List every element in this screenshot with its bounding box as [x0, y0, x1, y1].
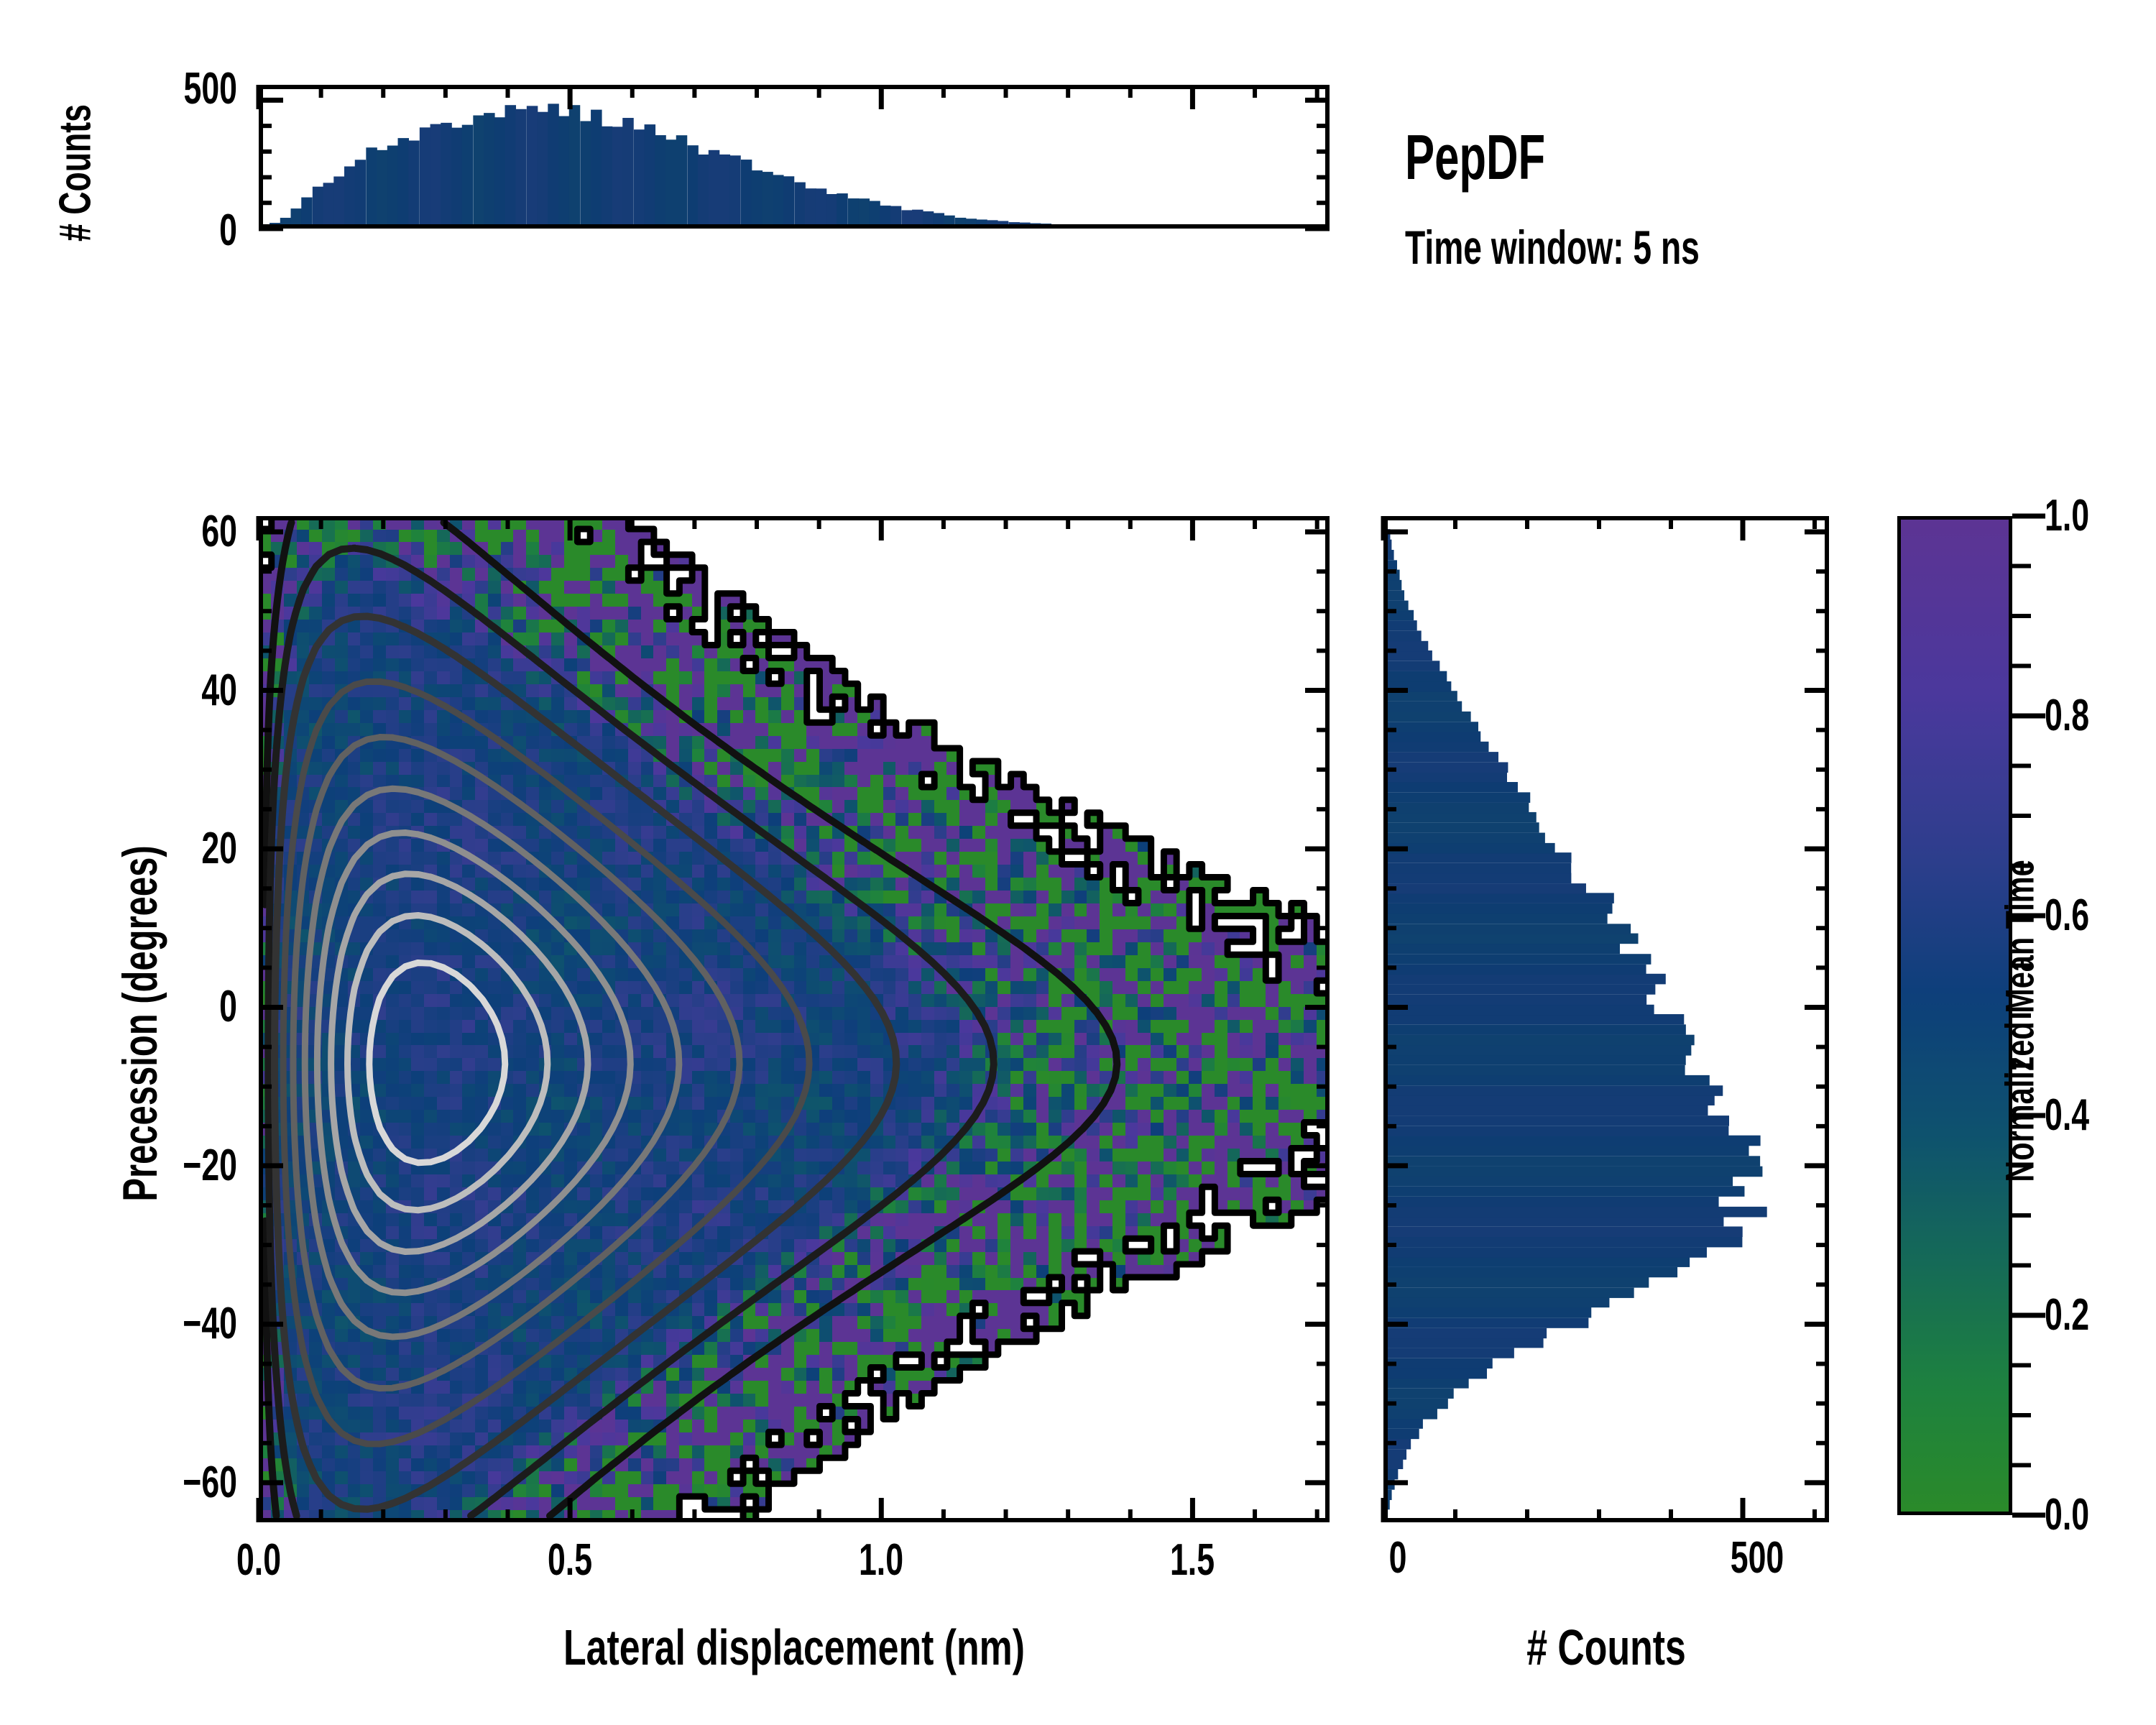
colorbar-axis-label: Normalized Mean Time [1996, 729, 2043, 1314]
colorbar-tick-0.2: 0.2 [2045, 1289, 2156, 1340]
right-xlabel: # Counts [1442, 1619, 1772, 1676]
right-xtick-500: 500 [1710, 1532, 1804, 1583]
colorbar-tick-0.4: 0.4 [2045, 1090, 2156, 1141]
colorbar-tick-0.6: 0.6 [2045, 890, 2156, 941]
colorbar-tick-1.0: 1.0 [2045, 490, 2156, 541]
figure-root: PepDF Time window: 5 ns 500 0 # Counts 6… [0, 0, 2156, 1725]
colorbar: 0.00.20.40.60.81.0 Normalized Mean Time [1897, 516, 2134, 1515]
right-histogram-ticks [0, 0, 2156, 1725]
colorbar-tick-0.0: 0.0 [2045, 1489, 2156, 1540]
right-xtick-0: 0 [1364, 1532, 1432, 1583]
colorbar-tick-0.8: 0.8 [2045, 690, 2156, 741]
